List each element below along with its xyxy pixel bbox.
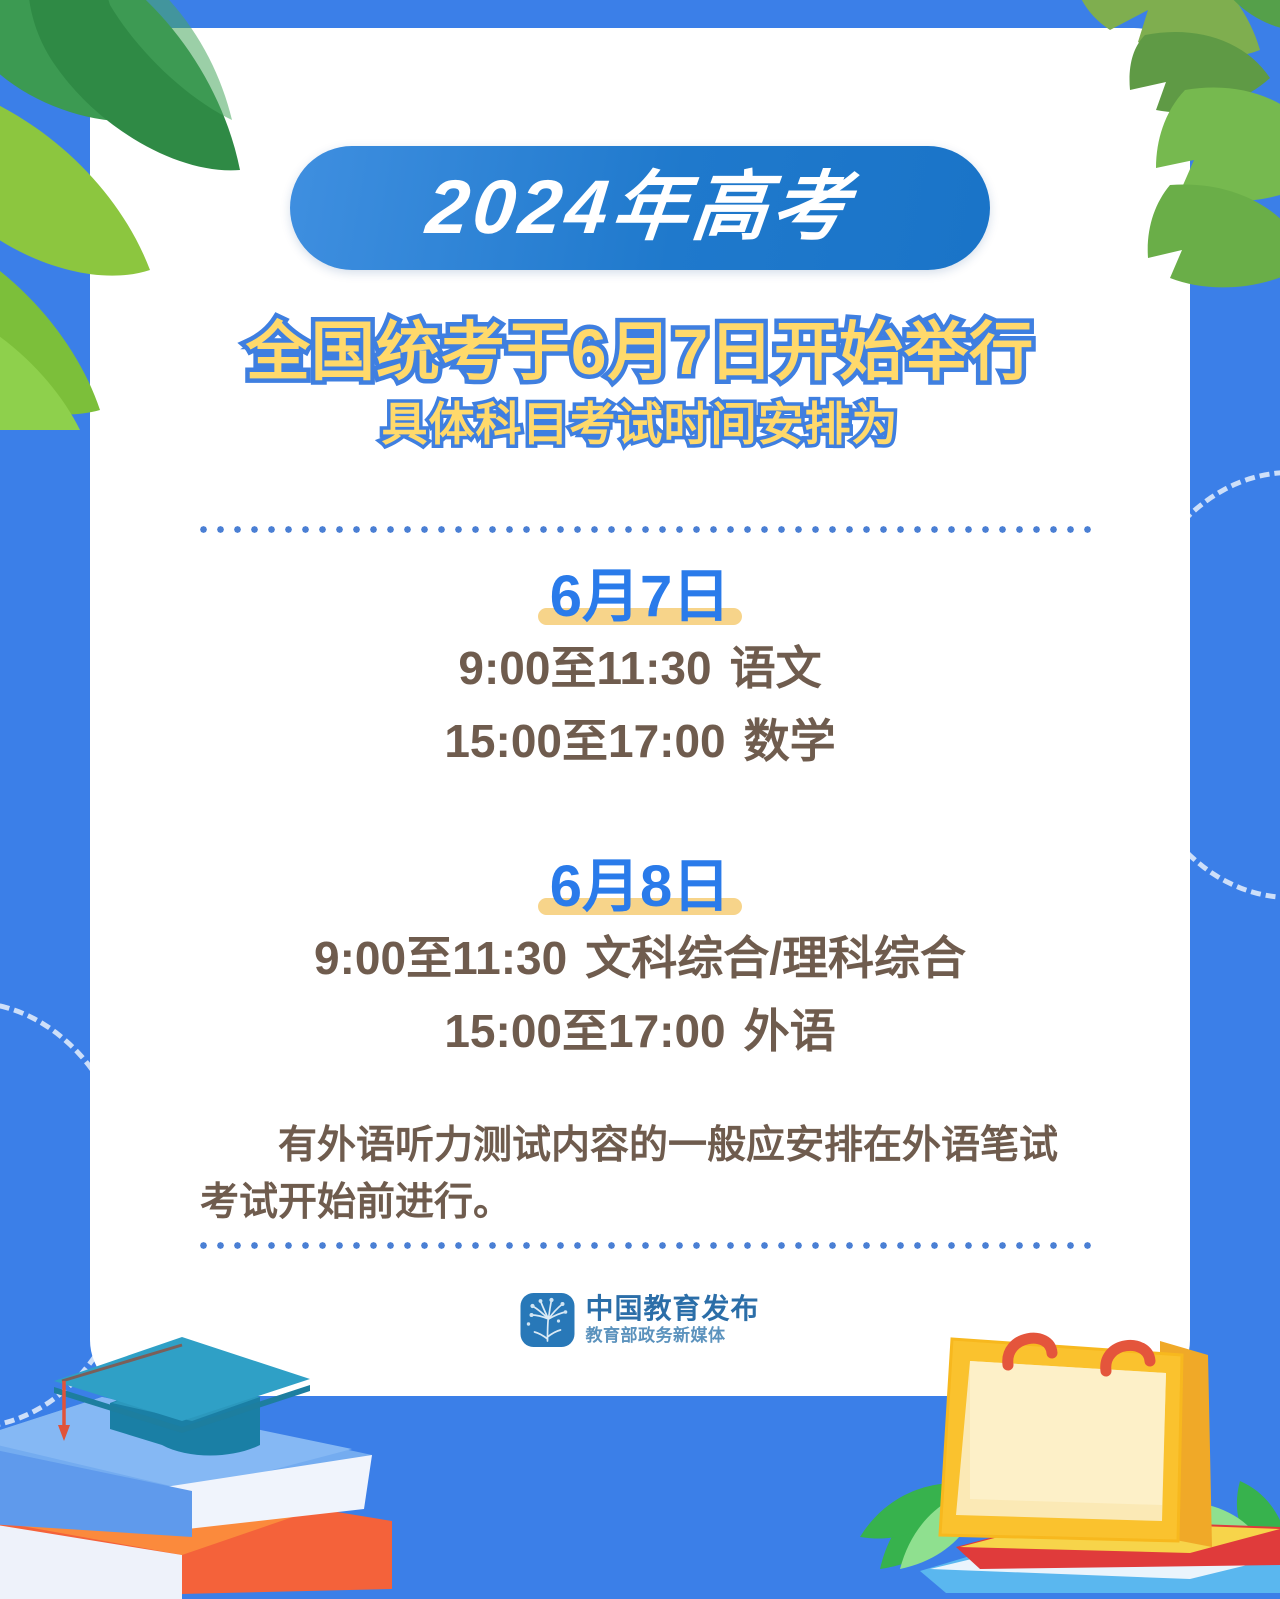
title-badge: 2024年高考 (290, 146, 990, 270)
schedule-row: 15:00至17:00数学 (0, 708, 1280, 775)
slot-time: 9:00至11:30 (314, 932, 567, 984)
slot-subject: 数学 (744, 715, 836, 767)
dandelion-glyph (520, 1293, 574, 1347)
date-label: 6月8日 (550, 854, 731, 919)
desk-calendar-icon (860, 1269, 1280, 1599)
graduation-cap-books-icon (0, 1269, 412, 1599)
slot-subject: 文科综合/理科综合 (585, 932, 966, 984)
logo-text-group: 中国教育发布 教育部政务新媒体 (585, 1293, 759, 1347)
schedule-row: 9:00至11:30文科综合/理科综合 (0, 925, 1280, 992)
slot-subject: 语文 (730, 642, 822, 694)
dandelion-icon (520, 1293, 574, 1347)
poster-root: 2024年高考 全国统考于6月7日开始举行 具体科目考试时间安排为 6月7日 9… (0, 0, 1280, 1599)
schedule-day-2-date: 6月8日 (536, 856, 745, 919)
slot-time: 9:00至11:30 (458, 642, 711, 694)
note-paragraph: 有外语听力测试内容的一般应安排在外语笔试考试开始前进行。 (200, 1118, 1090, 1231)
schedule-row: 9:00至11:30语文 (0, 635, 1280, 702)
schedule-day-2: 6月8日 9:00至11:30文科综合/理科综合 15:00至17:00外语 (0, 856, 1280, 1065)
logo-subtitle: 教育部政务新媒体 (585, 1326, 759, 1346)
schedule-row: 15:00至17:00外语 (0, 998, 1280, 1065)
headline-group: 全国统考于6月7日开始举行 具体科目考试时间安排为 (0, 318, 1280, 450)
title-badge-label: 2024年高考 (423, 170, 856, 246)
slot-time: 15:00至17:00 (444, 1005, 725, 1057)
date-label: 6月7日 (550, 564, 731, 629)
schedule-day-1: 6月7日 9:00至11:30语文 15:00至17:00数学 (0, 566, 1280, 775)
publisher-logo: 中国教育发布 教育部政务新媒体 (520, 1293, 759, 1347)
headline-main: 全国统考于6月7日开始举行 (0, 318, 1280, 387)
schedule-day-1-date: 6月7日 (536, 566, 745, 629)
dotted-divider-bottom (195, 1241, 1095, 1250)
headline-sub: 具体科目考试时间安排为 (0, 399, 1280, 450)
slot-time: 15:00至17:00 (444, 715, 725, 767)
slot-subject: 外语 (744, 1005, 836, 1057)
logo-name: 中国教育发布 (585, 1293, 759, 1324)
dotted-divider-top (195, 525, 1095, 534)
